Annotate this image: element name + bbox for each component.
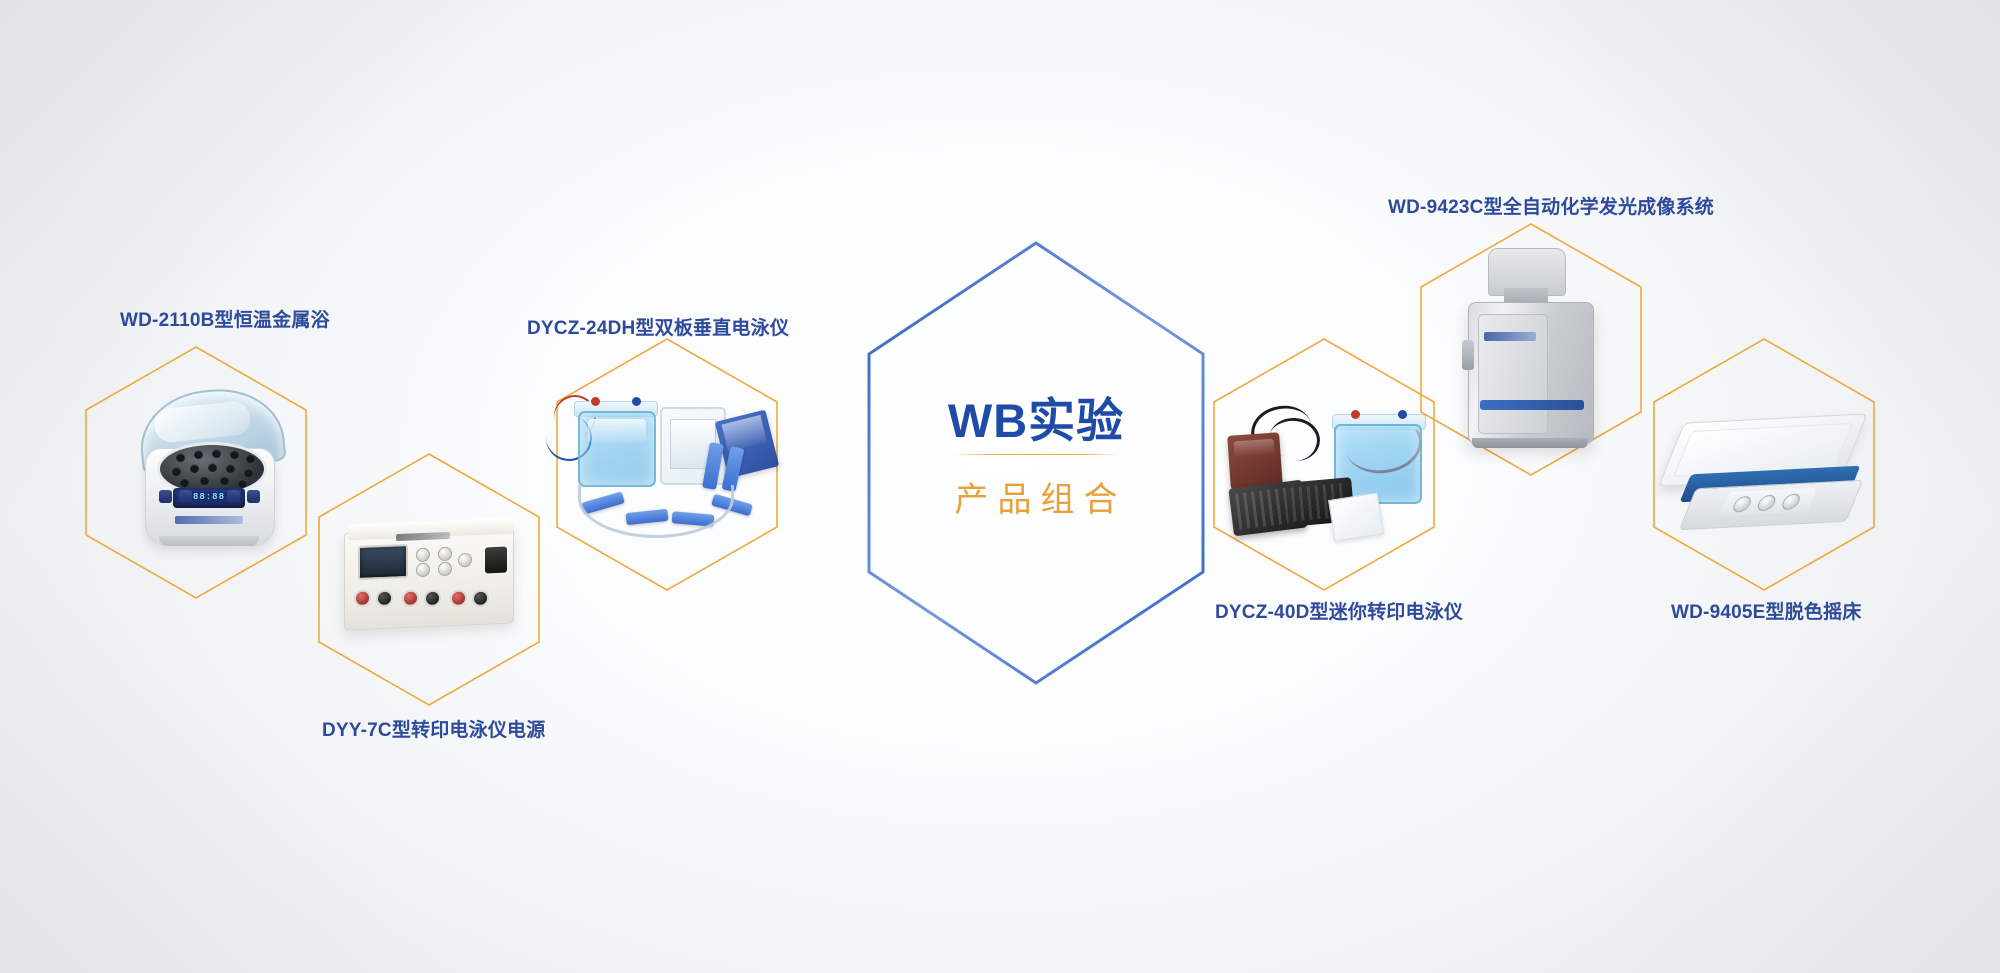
decolorizing-shaker-icon bbox=[1673, 418, 1868, 543]
center-title: WB实验 bbox=[866, 382, 1206, 451]
label-wd-2110b: WD-2110B型恒温金属浴 bbox=[120, 305, 330, 332]
label-dyy-7c: DYY-7C型转印电泳仪电源 bbox=[322, 715, 545, 742]
device-wd-9423c bbox=[1462, 240, 1602, 460]
center-subtitle: 产品组合 bbox=[866, 472, 1206, 521]
power-supply-icon bbox=[344, 515, 519, 645]
center-divider bbox=[950, 454, 1122, 455]
device-dycz-40d bbox=[1222, 395, 1442, 575]
label-dycz-40d: DYCZ-40D型迷你转印电泳仪 bbox=[1215, 597, 1463, 624]
mini-transfer-cell-icon bbox=[1225, 410, 1440, 560]
product-combination-diagram: WB实验 产品组合 88:88 bbox=[0, 0, 2000, 973]
device-dycz-24dh bbox=[552, 370, 782, 570]
centrifuge-metal-bath-icon: 88:88 bbox=[133, 386, 283, 561]
device-wd-9405e bbox=[1670, 410, 1870, 550]
chemiluminescence-imaging-icon bbox=[1462, 248, 1602, 453]
device-dyy-7c bbox=[344, 495, 519, 665]
label-wd-9405e: WD-9405E型脱色摇床 bbox=[1671, 597, 1862, 624]
vertical-electrophoresis-icon bbox=[560, 385, 775, 555]
label-wd-9423c: WD-9423C型全自动化学发光成像系统 bbox=[1388, 192, 1714, 219]
device-wd-2110b: 88:88 bbox=[133, 358, 283, 588]
label-dycz-24dh: DYCZ-24DH型双板垂直电泳仪 bbox=[527, 313, 789, 340]
center-content: WB实验 产品组合 bbox=[866, 240, 1206, 686]
